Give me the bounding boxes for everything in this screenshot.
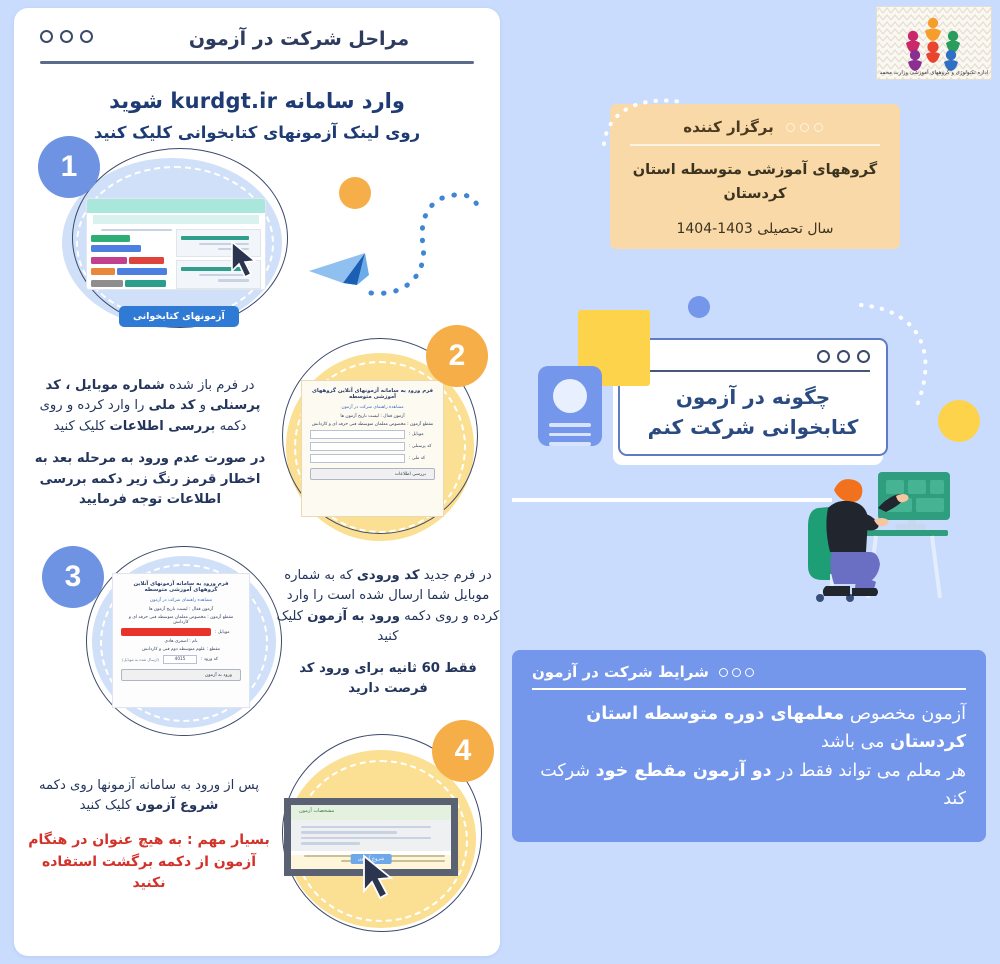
heading-line-2: روی لینک آزمونهای کتابخوانی کلیک کنید: [40, 120, 474, 146]
heading-line-1: وارد سامانه kurdgt.ir شوید: [40, 86, 474, 118]
step-2-text: در فرم باز شده شماره موبایل ، کد پرسنلی …: [30, 376, 270, 511]
step-4-danger-note: بسیار مهم : به هیچ عنوان در هنگام آزمون …: [28, 830, 270, 895]
step-4-instruction: پس از ورود به سامانه آزمونها روی دکمه شر…: [39, 778, 259, 813]
site-header-banner: [87, 199, 265, 213]
form-check-info-button[interactable]: بررسی اطلاعات: [310, 468, 435, 480]
organizer-line-1: گروههای آموزشی متوسطه استان کردستان: [628, 158, 882, 207]
form-mobile-input[interactable]: [310, 430, 405, 439]
rules-panel: شرایط شرکت در آزمون آزمون مخصوص معلمهای …: [512, 650, 986, 842]
window-dot-icon: [786, 123, 795, 132]
site-subheader-bar: [93, 215, 259, 224]
question-line-1: چگونه در آزمون: [636, 382, 870, 412]
form-enter-exam-button[interactable]: ورود به آزمون: [121, 669, 241, 681]
question-window: چگونه در آزمون کتابخوانی شرکت کنم: [618, 338, 888, 456]
organizer-dots: [786, 123, 823, 132]
window-dots: [40, 30, 93, 43]
rules-dots: [719, 668, 754, 677]
window-dot-icon: [817, 350, 830, 363]
exam-detail-line: [301, 837, 431, 839]
dotted-arc-left-decoration: [598, 92, 728, 152]
form-personnel-label: کد پرسنلی :: [409, 444, 435, 449]
rules-body: آزمون مخصوص معلمهای دوره متوسطه استان کر…: [532, 700, 966, 813]
form-mobile-field[interactable]: موبایل :: [310, 430, 435, 439]
avatar-placeholder-icon: [553, 379, 587, 413]
form-exam-level-row: مقطع آزمون : مخصوص معلمان متوسطه فنی حرف…: [121, 615, 241, 625]
exam-link-chip[interactable]: [91, 280, 123, 287]
step-3-instruction: در فرم جدید کد ورودی که به شماره موبایل …: [277, 568, 500, 644]
card-line: [549, 442, 591, 446]
steps-card-heading: وارد سامانه kurdgt.ir شوید روی لینک آزمو…: [40, 86, 474, 146]
form-code-input[interactable]: 4015: [163, 655, 197, 664]
step-3-text: در فرم جدید کد ورودی که به شماره موبایل …: [276, 566, 500, 700]
organizer-line-2: سال تحصیلی 1403-1404: [628, 221, 882, 237]
form-personnel-field[interactable]: کد پرسنلی :: [310, 442, 435, 451]
card-line: [549, 433, 591, 437]
dotted-arc-right-decoration: [855, 300, 945, 425]
redacted-mobile-value: [121, 628, 211, 636]
exam-link-chip[interactable]: [117, 268, 167, 275]
form-mobile-label: موبایل :: [409, 432, 435, 437]
form-personnel-input[interactable]: [310, 442, 405, 451]
window-dot-icon: [60, 30, 73, 43]
window-dot-icon: [40, 30, 53, 43]
question-window-text: چگونه در آزمون کتابخوانی شرکت کنم: [636, 382, 870, 442]
rules-divider: [532, 688, 966, 690]
exam-detail-line: [301, 842, 360, 844]
blue-dot-decoration: [688, 296, 710, 318]
rules-title-row: شرایط شرکت در آزمون: [532, 663, 966, 681]
form-national-field[interactable]: کد ملی :: [310, 454, 435, 463]
profile-card-decoration: [538, 366, 602, 446]
form-active-exam-row: آزمون فعال : لیست تاریخ آزمون ها: [310, 414, 435, 419]
list-row: [181, 236, 249, 240]
title-divider: [40, 61, 474, 64]
exam-info-banner: مشخصات آزمون: [291, 805, 451, 820]
form-title: فرم ورود به سامانه آزمونهای آنلاین گروهه…: [310, 388, 435, 400]
logo-caption: اداره تکنولوژی و گروههای آموزشی وزارت مح…: [877, 70, 991, 76]
form-exam-level-row: مقطع آزمون : مخصوص معلمان متوسطه فنی حرف…: [310, 422, 435, 427]
exam-link-chip[interactable]: [125, 280, 165, 287]
step-2-instruction: در فرم باز شده شماره موبایل ، کد پرسنلی …: [40, 378, 261, 434]
form-national-input[interactable]: [310, 454, 405, 463]
window-dot-icon: [800, 123, 809, 132]
question-window-divider: [636, 370, 870, 372]
exam-link-chip[interactable]: [91, 268, 115, 275]
window-dot-icon: [80, 30, 93, 43]
card-line: [549, 423, 591, 427]
form-code-label: کد ورود :: [201, 657, 241, 662]
list-heading: [101, 229, 172, 231]
step-2-warning: در صورت عدم ورود به مرحله بعد به اخطار ق…: [30, 449, 270, 510]
exam-link-chip[interactable]: [91, 257, 127, 264]
exam-info-title: مشخصات آزمون: [291, 805, 451, 817]
organization-logo: اداره تکنولوژی و گروههای آموزشی وزارت مح…: [876, 6, 992, 80]
step-4-badge: 4: [432, 720, 494, 782]
form-national-label: کد ملی :: [409, 456, 435, 461]
exam-link-chip[interactable]: [129, 257, 165, 264]
form-active-exam-row: آزمون فعال : لیست تاریخ آزمون ها: [121, 607, 241, 612]
person-at-desk-illustration: [790, 470, 990, 650]
form-mobile-label: موبایل :: [215, 630, 241, 635]
form-code-field[interactable]: کد ورود : 4015 (ارسال شده به موبایل): [121, 655, 241, 664]
step-2-badge: 2: [426, 325, 488, 387]
step-2-screenshot: فرم ورود به سامانه آزمونهای آنلاین گروهه…: [301, 380, 444, 517]
step-3-note: فقط 60 ثانیه برای ورود کد فرصت دارید: [276, 659, 500, 700]
form-mobile-field: موبایل :: [121, 628, 241, 636]
question-window-dots: [636, 350, 870, 363]
steps-card-title: مراحل شرکت در آزمون: [124, 28, 474, 50]
form-help-link[interactable]: مشاهده راهنمای شرکت در آزمون: [121, 598, 241, 603]
exam-link-chip[interactable]: [91, 245, 141, 252]
window-dot-icon: [837, 350, 850, 363]
step-1-readalong-button[interactable]: آزمونهای کتابخوانی: [119, 306, 239, 327]
exam-link-chip[interactable]: [91, 235, 130, 242]
step-4-text: پس از ورود به سامانه آزمونها روی دکمه شر…: [28, 776, 270, 895]
form-name-row: نام : اصغری هادی: [121, 639, 241, 644]
form-title: فرم ورود به سامانه آزمونهای آنلاین گروهه…: [121, 581, 241, 593]
paper-plane-decoration: [299, 171, 500, 301]
exam-detail-line: [301, 826, 431, 828]
steps-card: مراحل شرکت در آزمون وارد سامانه kurdgt.i…: [14, 8, 500, 956]
step-3-badge: 3: [42, 546, 104, 608]
step-1-badge: 1: [38, 136, 100, 198]
window-dot-icon: [814, 123, 823, 132]
step-4-cursor-icon: [360, 853, 400, 901]
form-branch-row: مقطع : علوم متوسطه دوم فنی و کاردانش: [121, 647, 241, 652]
window-dot-icon: [745, 668, 754, 677]
step-1-cursor-icon: [229, 240, 263, 280]
window-dot-icon: [732, 668, 741, 677]
step-3-screenshot: فرم ورود به سامانه آزمونهای آنلاین گروهه…: [112, 573, 250, 708]
form-code-hint: (ارسال شده به موبایل): [122, 657, 159, 662]
form-help-link[interactable]: مشاهده راهنمای شرکت در آزمون: [310, 405, 435, 410]
exam-detail-line: [301, 831, 397, 833]
desk-back-wall-line: [512, 498, 832, 502]
window-dot-icon: [719, 668, 728, 677]
question-line-2: کتابخوانی شرکت کنم: [636, 412, 870, 442]
rules-title: شرایط شرکت در آزمون: [532, 663, 709, 681]
